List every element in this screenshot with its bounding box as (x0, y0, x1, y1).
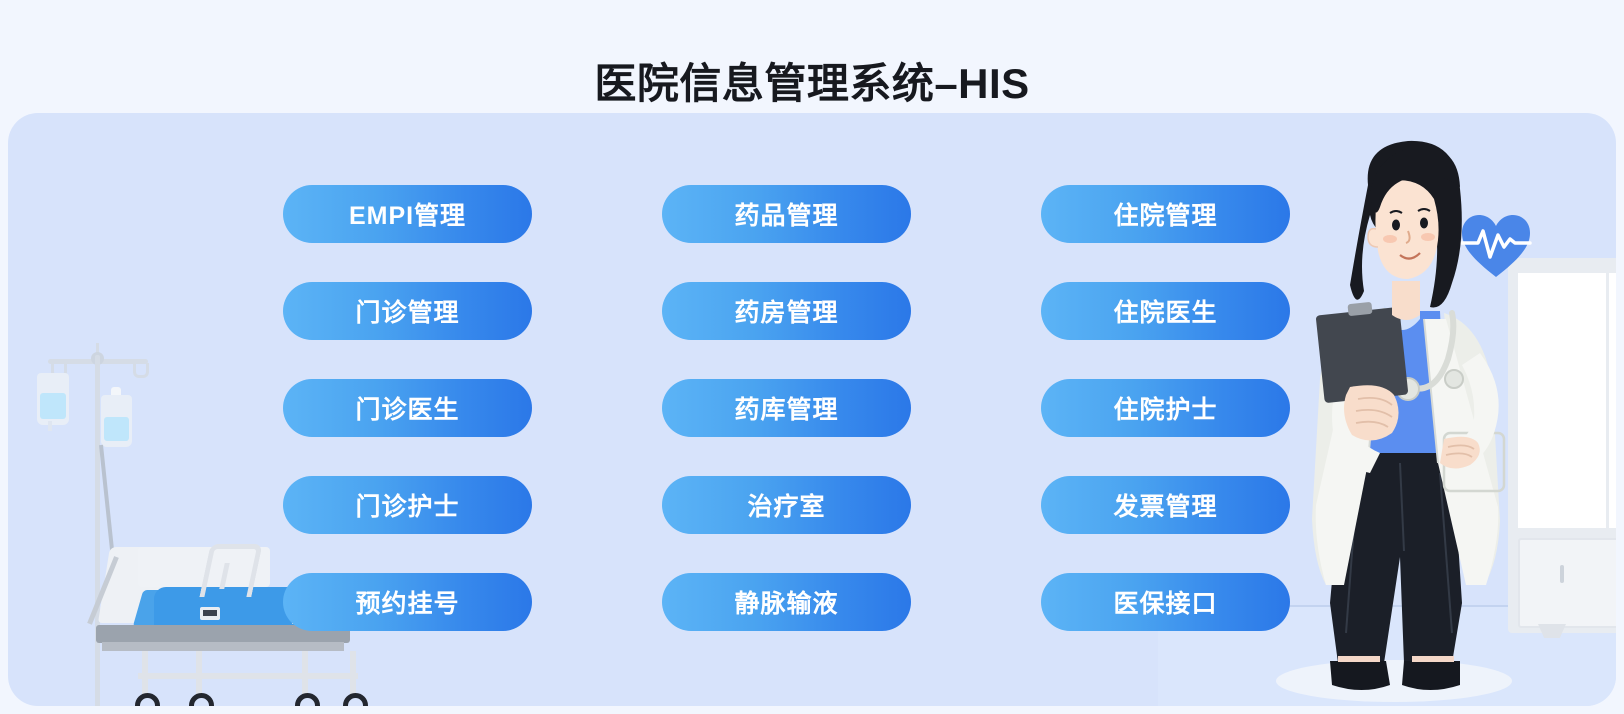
iv-hook-right-icon (133, 363, 149, 378)
menu-button-drug-management[interactable]: 药品管理 (662, 185, 911, 243)
his-dashboard-page: 医院信息管理系统–HIS (0, 0, 1624, 714)
menu-button-outpatient-nurse[interactable]: 门诊护士 (283, 476, 532, 534)
module-column-inpatient: 住院管理 住院医生 住院护士 发票管理 医保接口 (1041, 185, 1290, 631)
bed-wheel (295, 693, 320, 706)
menu-button-treatment-room[interactable]: 治疗室 (662, 476, 911, 534)
main-panel: EMPI管理 门诊管理 门诊医生 门诊护士 预约挂号 药品管理 药房管理 药库管… (8, 113, 1616, 706)
module-column-pharmacy: 药品管理 药房管理 药库管理 治疗室 静脉输液 (662, 185, 911, 631)
iv-pole (95, 355, 100, 706)
menu-button-intravenous-infusion[interactable]: 静脉输液 (662, 573, 911, 631)
iv-tube (99, 445, 114, 555)
doctor-eye-right (1420, 218, 1428, 229)
page-title: 医院信息管理系统–HIS (0, 60, 1624, 108)
menu-button-drug-warehouse-management[interactable]: 药库管理 (662, 379, 911, 437)
bed-control-panel (200, 607, 220, 620)
doctor-hand-left (1344, 385, 1399, 440)
bed-wheel (135, 693, 160, 706)
doctor-shoe-right (1402, 661, 1460, 690)
module-column-outpatient: EMPI管理 门诊管理 门诊医生 门诊护士 预约挂号 (283, 185, 532, 631)
menu-button-outpatient-doctor[interactable]: 门诊医生 (283, 379, 532, 437)
menu-button-empi-management[interactable]: EMPI管理 (283, 185, 532, 243)
menu-button-appointment-registration[interactable]: 预约挂号 (283, 573, 532, 631)
menu-button-invoice-management[interactable]: 发票管理 (1041, 476, 1290, 534)
iv-bag-primary-neck (48, 421, 52, 431)
iv-bag-primary (37, 373, 69, 425)
menu-button-inpatient-doctor[interactable]: 住院医生 (1041, 282, 1290, 340)
menu-button-outpatient-management[interactable]: 门诊管理 (283, 282, 532, 340)
menu-button-pharmacy-management[interactable]: 药房管理 (662, 282, 911, 340)
bed-crossbar (138, 673, 358, 679)
menu-button-medical-insurance-interface[interactable]: 医保接口 (1041, 573, 1290, 631)
module-grid: EMPI管理 门诊管理 门诊医生 门诊护士 预约挂号 药品管理 药房管理 药库管… (283, 185, 1305, 631)
bed-frame-lower (102, 642, 344, 651)
bed-wheel (189, 693, 214, 706)
doctor-shoe-left (1330, 661, 1390, 690)
doctor-eye-left (1392, 220, 1400, 231)
iv-bag-secondary (101, 395, 132, 447)
doctor-neck (1392, 281, 1420, 320)
bed-wheel (343, 693, 368, 706)
menu-button-inpatient-management[interactable]: 住院管理 (1041, 185, 1290, 243)
menu-button-inpatient-nurse[interactable]: 住院护士 (1041, 379, 1290, 437)
doctor-shadow (1276, 660, 1512, 702)
